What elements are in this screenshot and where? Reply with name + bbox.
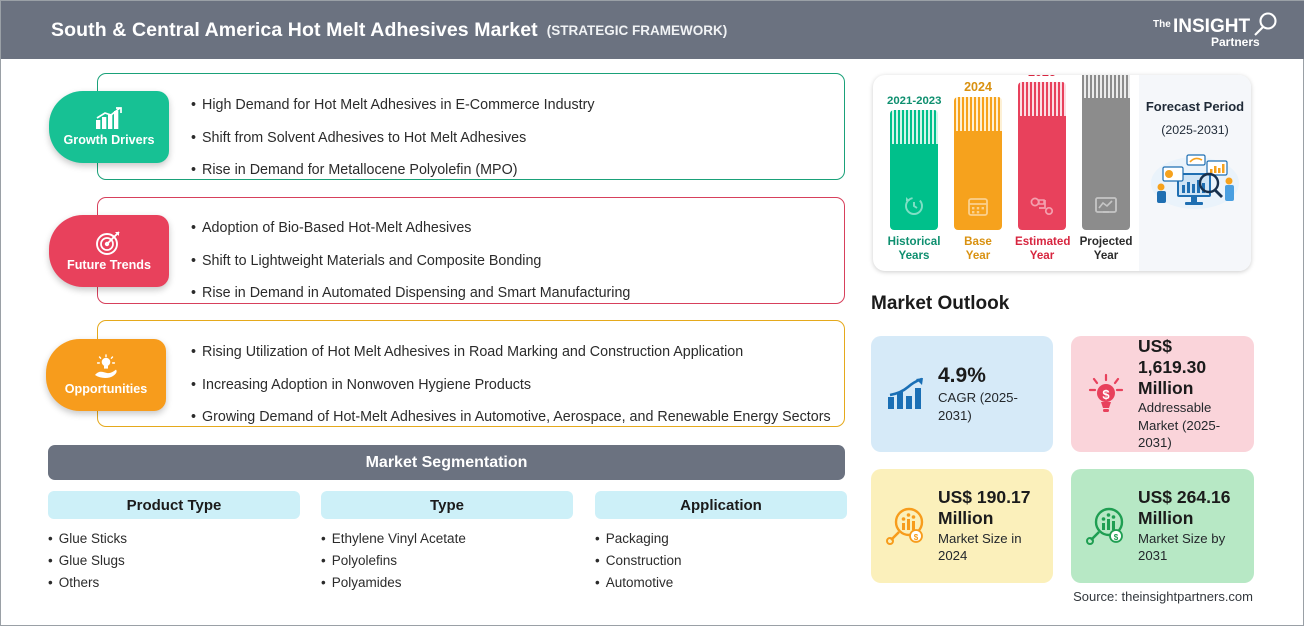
forecast-bar-label: Historical Years <box>887 235 941 263</box>
card-icon-wrap: $ <box>1081 373 1131 415</box>
segmentation-column-list: Glue Sticks Glue Slugs Others <box>48 531 300 590</box>
monitor-chart-icon <box>1094 195 1118 217</box>
magnifier-chart-icon: $ <box>1085 506 1127 546</box>
card-icon-wrap: $ <box>1081 506 1131 546</box>
badge-label: Future Trends <box>67 258 151 272</box>
badge-label: Growth Drivers <box>64 133 155 147</box>
market-segmentation-header: Market Segmentation <box>48 445 845 480</box>
forecast-bar-estimated: 2025 Estimated Year <box>1015 75 1069 263</box>
svg-text:$: $ <box>914 533 919 542</box>
list-item: Shift from Solvent Adhesives to Hot Melt… <box>191 129 841 148</box>
bar-solid <box>1082 98 1130 230</box>
page-header: South & Central America Hot Melt Adhesiv… <box>1 1 1304 59</box>
outlook-card-cagr: 4.9% CAGR (2025-2031) <box>871 336 1053 452</box>
page-subtitle: (STRATEGIC FRAMEWORK) <box>547 23 727 38</box>
list-item: Rise in Demand in Automated Dispensing a… <box>191 284 841 303</box>
list-item: Shift to Lightweight Materials and Compo… <box>191 252 841 271</box>
growth-drivers-bullets: High Demand for Hot Melt Adhesives in E-… <box>191 96 841 194</box>
source-note: Source: theinsightpartners.com <box>1073 589 1253 604</box>
bar-chart-arrow-icon <box>886 377 926 411</box>
forecast-bar-label: Base Year <box>951 235 1005 263</box>
forecast-bar-projected: 2031 Projected Year <box>1079 75 1133 263</box>
lightbulb-hand-icon <box>91 354 121 380</box>
badge-opportunities[interactable]: Opportunities <box>46 339 166 411</box>
list-item: Growing Demand of Hot-Melt Adhesives in … <box>191 408 841 427</box>
card-icon-wrap <box>881 377 931 411</box>
magnifier-chart-icon: $ <box>885 506 927 546</box>
dollar-lightbulb-icon: $ <box>1086 373 1126 415</box>
list-item: Glue Sticks <box>48 531 300 546</box>
svg-text:$: $ <box>1114 533 1119 542</box>
svg-text:Partners: Partners <box>1211 35 1260 49</box>
segmentation-column-application: Application Packaging Construction Autom… <box>595 491 847 597</box>
bar-stripe <box>1082 75 1130 98</box>
badge-label: Opportunities <box>65 382 148 396</box>
list-item: Polyolefins <box>321 553 573 568</box>
gear-chart-icon <box>1029 195 1055 217</box>
insight-partners-logo: The INSIGHT Partners <box>1151 10 1283 50</box>
card-body: US$ 1,619.30 Million Addressable Market … <box>1138 336 1244 452</box>
page-title: South & Central America Hot Melt Adhesiv… <box>51 19 538 42</box>
card-value: US$ 264.16 Million <box>1138 487 1244 528</box>
outlook-card-market-size-2024: $ US$ 190.17 Million Market Size in 2024 <box>871 469 1053 583</box>
segmentation-column-title: Product Type <box>48 491 300 519</box>
segmentation-column-title: Application <box>595 491 847 519</box>
forecast-bar-base: 2024 Base Year <box>951 80 1005 263</box>
forecast-period-box: Forecast Period (2025-2031) <box>1139 75 1251 271</box>
forecast-period-title: Forecast Period <box>1146 99 1244 116</box>
future-trends-bullets: Adoption of Bio-Based Hot-Melt Adhesives… <box>191 219 841 317</box>
list-item: Polyamides <box>321 575 573 590</box>
list-item: Others <box>48 575 300 590</box>
badge-future-trends[interactable]: Future Trends <box>49 215 169 287</box>
forecast-period-panel: 2021-2023 Historical Years 2024 <box>873 75 1251 271</box>
list-item: Construction <box>595 553 847 568</box>
card-body: 4.9% CAGR (2025-2031) <box>938 364 1043 425</box>
outlook-card-market-size-2031: $ US$ 264.16 Million Market Size by 2031 <box>1071 469 1254 583</box>
card-description: Addressable Market (2025-2031) <box>1138 399 1244 452</box>
forecast-bar-year: 2025 <box>1015 75 1069 79</box>
analytics-illustration-icon <box>1147 143 1243 213</box>
list-item: Glue Slugs <box>48 553 300 568</box>
list-item: Increasing Adoption in Nonwoven Hygiene … <box>191 376 841 395</box>
calendar-icon <box>967 195 989 217</box>
bar-stripe <box>954 97 1002 131</box>
bar-stripe <box>1018 82 1066 116</box>
card-value: 4.9% <box>938 364 1043 389</box>
forecast-period-range: (2025-2031) <box>1161 123 1229 137</box>
card-value: US$ 190.17 Million <box>938 487 1043 528</box>
card-value: US$ 1,619.30 Million <box>1138 336 1244 398</box>
badge-growth-drivers[interactable]: Growth Drivers <box>49 91 169 163</box>
opportunities-bullets: Rising Utilization of Hot Melt Adhesives… <box>191 343 841 441</box>
segmentation-column-type: Type Ethylene Vinyl Acetate Polyolefins … <box>321 491 573 597</box>
bar-stripe <box>890 110 938 144</box>
forecast-bar-label: Estimated Year <box>1015 235 1069 263</box>
outlook-card-addressable-market: $ US$ 1,619.30 Million Addressable Marke… <box>1071 336 1254 452</box>
svg-text:INSIGHT: INSIGHT <box>1173 16 1250 37</box>
list-item: Automotive <box>595 575 847 590</box>
list-item: Rise in Demand for Metallocene Polyolefi… <box>191 161 841 180</box>
list-item: Adoption of Bio-Based Hot-Melt Adhesives <box>191 219 841 238</box>
bar-solid <box>890 144 938 230</box>
forecast-bar-year: 2024 <box>951 80 1005 94</box>
bar-solid <box>1018 116 1066 230</box>
forecast-bar-year: 2021-2023 <box>887 95 941 107</box>
segmentation-column-product-type: Product Type Glue Sticks Glue Slugs Othe… <box>48 491 300 597</box>
forecast-bars: 2021-2023 Historical Years 2024 <box>887 75 1139 271</box>
segmentation-column-list: Packaging Construction Automotive <box>595 531 847 590</box>
card-body: US$ 190.17 Million Market Size in 2024 <box>938 487 1043 564</box>
card-body: US$ 264.16 Million Market Size by 2031 <box>1138 487 1244 564</box>
segmentation-column-list: Ethylene Vinyl Acetate Polyolefins Polya… <box>321 531 573 590</box>
list-item: Rising Utilization of Hot Melt Adhesives… <box>191 343 841 362</box>
svg-text:$: $ <box>1102 387 1110 402</box>
svg-text:The: The <box>1153 19 1171 30</box>
target-dart-icon <box>95 230 123 256</box>
forecast-bar-label: Projected Year <box>1079 235 1133 263</box>
bar-solid <box>954 131 1002 230</box>
card-description: Market Size in 2024 <box>938 530 1043 565</box>
card-description: CAGR (2025-2031) <box>938 389 1043 424</box>
segmentation-column-title: Type <box>321 491 573 519</box>
card-description: Market Size by 2031 <box>1138 530 1244 565</box>
card-icon-wrap: $ <box>881 506 931 546</box>
market-outlook-title: Market Outlook <box>871 293 1009 315</box>
list-item: High Demand for Hot Melt Adhesives in E-… <box>191 96 841 115</box>
list-item: Ethylene Vinyl Acetate <box>321 531 573 546</box>
infographic-page: South & Central America Hot Melt Adhesiv… <box>0 0 1304 626</box>
market-segmentation-title: Market Segmentation <box>366 454 528 472</box>
bar-chart-growth-icon <box>94 107 124 131</box>
clock-rewind-icon <box>902 193 926 217</box>
list-item: Packaging <box>595 531 847 546</box>
forecast-bar-historical: 2021-2023 Historical Years <box>887 95 941 263</box>
